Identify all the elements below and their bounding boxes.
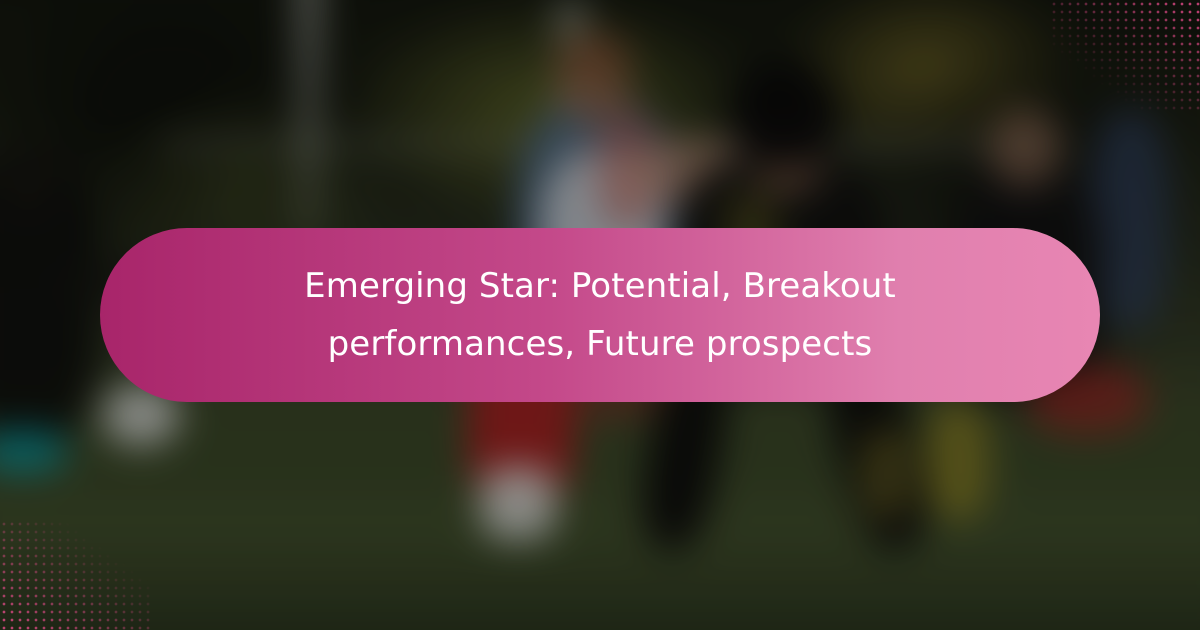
dot-grid-bottom-left-icon: [0, 520, 150, 630]
page-title: Emerging Star: Potential, Breakout perfo…: [290, 257, 910, 373]
dot-grid-top-right-icon: [1050, 0, 1200, 110]
title-banner: Emerging Star: Potential, Breakout perfo…: [100, 228, 1100, 402]
social-share-card: Emerging Star: Potential, Breakout perfo…: [0, 0, 1200, 630]
